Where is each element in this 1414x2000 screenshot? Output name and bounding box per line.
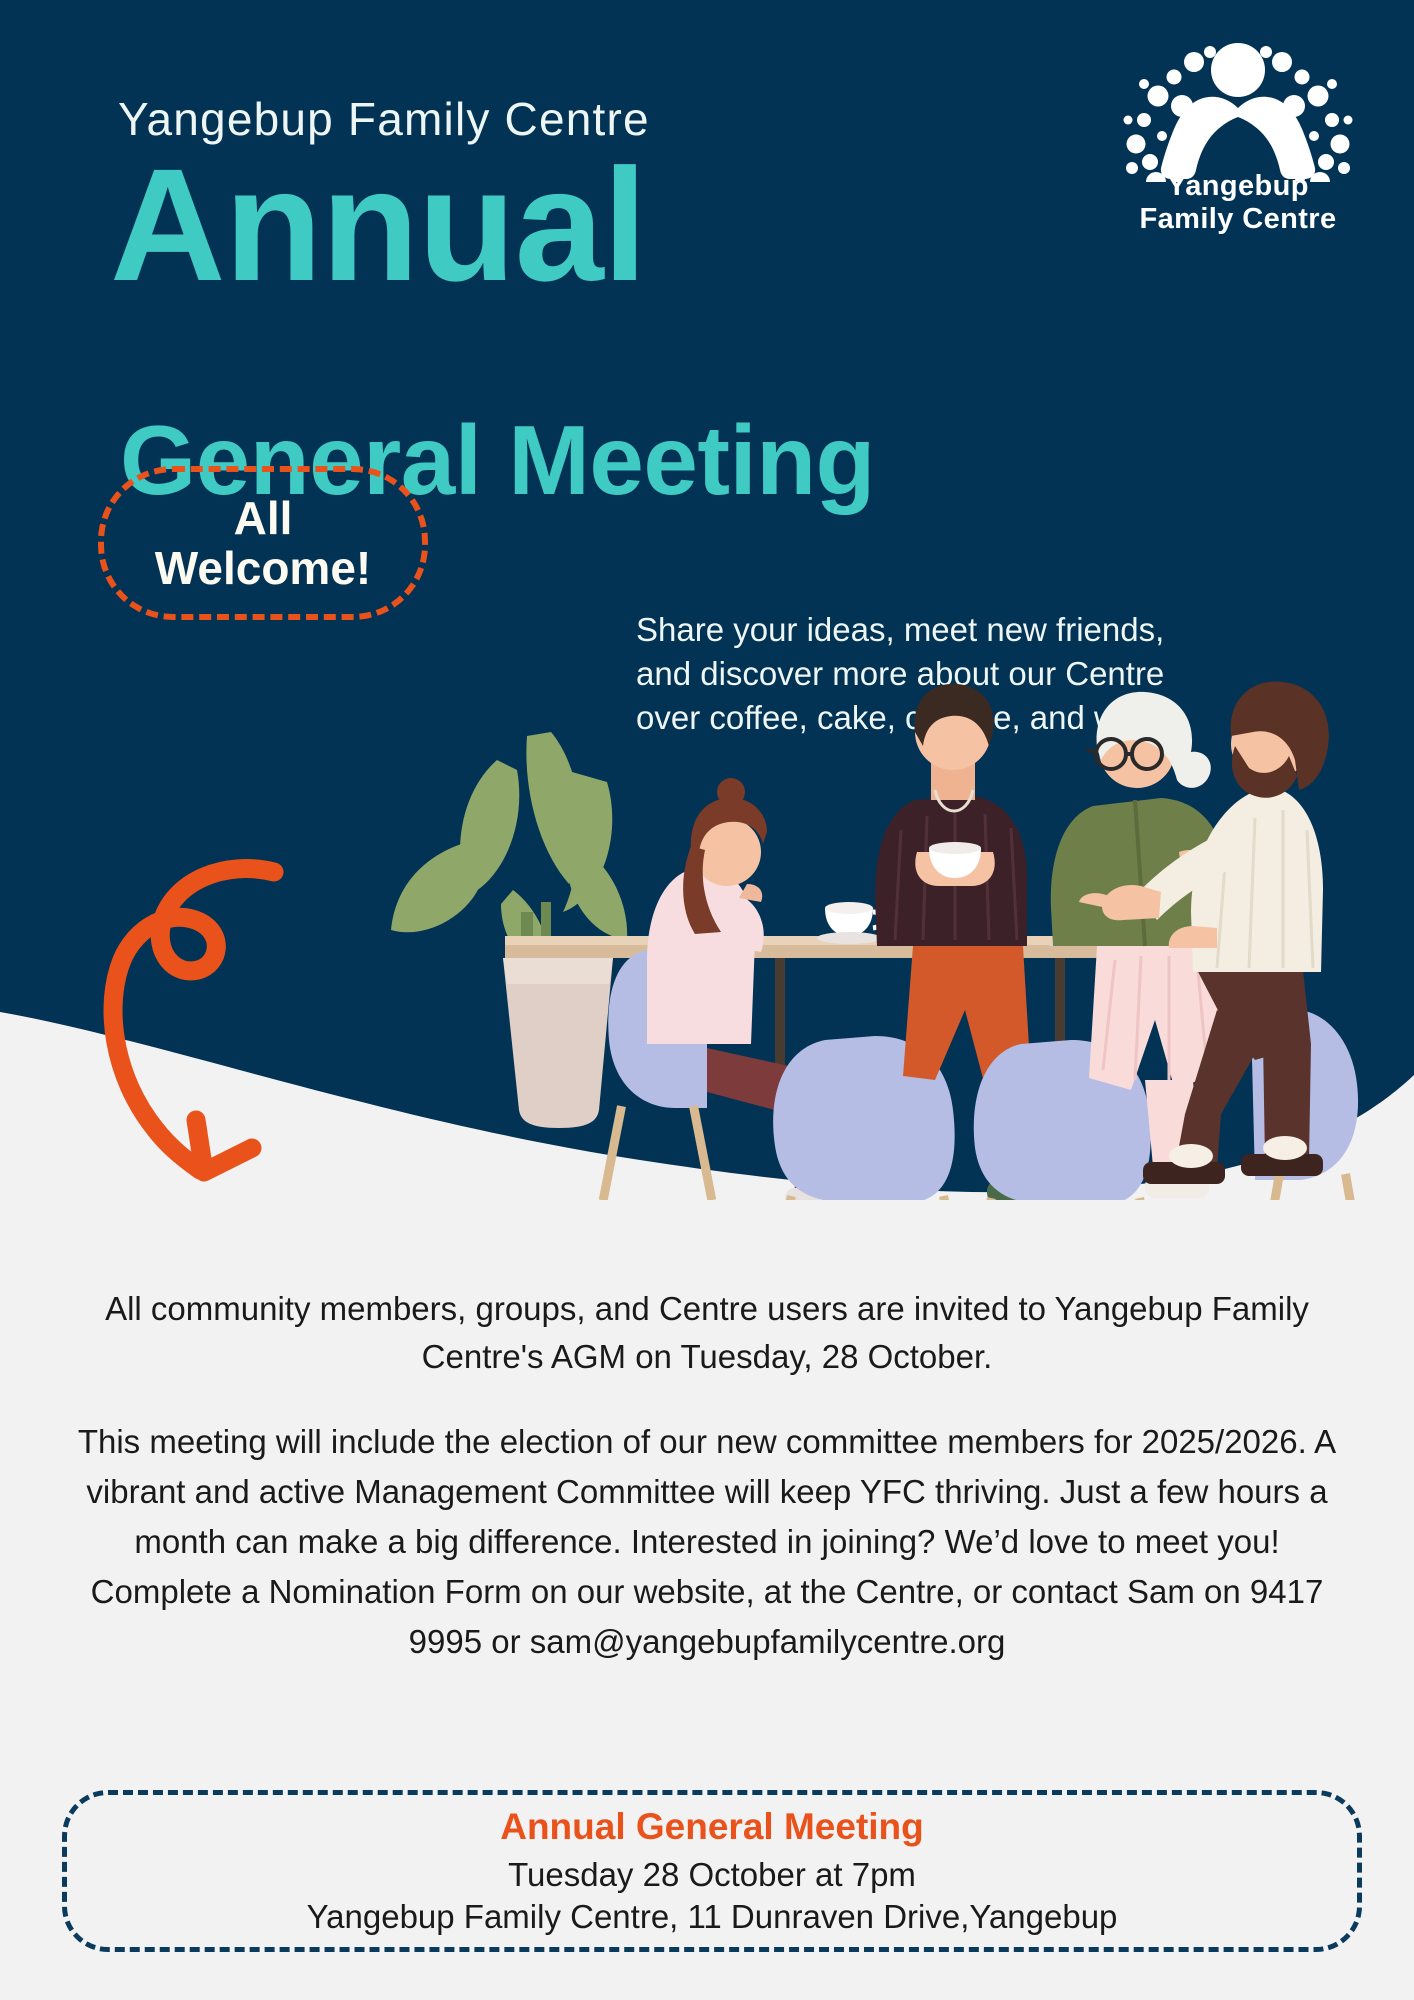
badge-line2: Welcome! [155, 543, 371, 593]
people-meeting-at-table-illustration [355, 640, 1414, 1200]
body-copy: All community members, groups, and Centr… [70, 1285, 1344, 1667]
curly-down-arrow-icon [100, 830, 340, 1190]
potted-plant-illustration [391, 732, 627, 1128]
all-welcome-badge-text: All Welcome! [155, 493, 371, 593]
body-paragraph-1: All community members, groups, and Centr… [70, 1285, 1344, 1381]
page-title-line1: Annual [110, 150, 646, 300]
event-datetime: Tuesday 28 October at 7pm [508, 1854, 916, 1896]
body-paragraph-2: This meeting will include the election o… [70, 1417, 1344, 1667]
logo-text-line1: Yangebup [1098, 170, 1378, 203]
all-welcome-badge: All Welcome! [98, 466, 428, 620]
poster-root: Yangebup Family Centre Annual General Me… [0, 0, 1414, 2000]
hero-section: Yangebup Family Centre Annual General Me… [0, 0, 1414, 1250]
event-title: Annual General Meeting [500, 1804, 924, 1850]
coffee-cup-illustration [817, 902, 883, 944]
logo-text: Yangebup Family Centre [1098, 170, 1378, 236]
logo: Yangebup Family Centre [1098, 22, 1378, 252]
logo-text-line2: Family Centre [1098, 203, 1378, 236]
event-details-box: Annual General Meeting Tuesday 28 Octobe… [62, 1790, 1362, 1952]
event-location: Yangebup Family Centre, 11 Dunraven Driv… [307, 1896, 1118, 1938]
logo-mark-icon [1098, 22, 1378, 182]
badge-line1: All [155, 493, 371, 543]
